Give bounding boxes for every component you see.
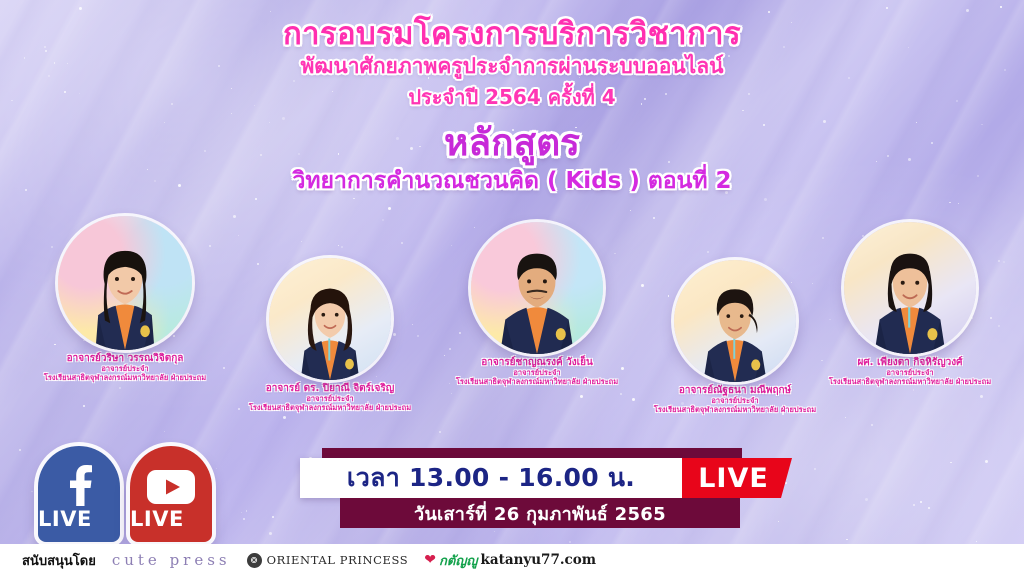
sponsor-footer: สนับสนุนโดย cute press ❂ ORIENTAL PRINCE… [0, 544, 1024, 576]
sponsor-cute-press: cute press [112, 551, 231, 569]
youtube-live-label: LIVE [130, 507, 212, 531]
facebook-live-label: LIVE [38, 507, 120, 531]
schedule-banner: เวลา 13.00 - 16.00 น. LIVE วันเสาร์ที่ 2… [300, 448, 770, 534]
speaker-photo [471, 222, 603, 354]
speaker-card: อาจารย์ ดร. ปิยาณี จิตร์เจริญ อาจารย์ประ… [215, 258, 445, 412]
oriental-princess-label: ORIENTAL PRINCESS [267, 553, 409, 567]
speaker-card: อาจารย์วริษา วรรณวิจิตกุล อาจารย์ประจำ โ… [10, 216, 240, 382]
speaker-caption: อาจารย์ณัฐธนา มณีพฤกษ์ อาจารย์ประจำ โรงเ… [620, 385, 850, 414]
heart-leaf-icon: ❤ [424, 552, 436, 568]
katanyu-url: katanyu77.com [481, 552, 597, 568]
time-chip: เวลา 13.00 - 16.00 น. [300, 458, 682, 498]
speaker-org: โรงเรียนสาธิตจุฬาลงกรณ์มหาวิทยาลัย ฝ่ายป… [422, 378, 652, 387]
speaker-caption: อาจารย์ ดร. ปิยาณี จิตร์เจริญ อาจารย์ประ… [215, 383, 445, 412]
speaker-photo [674, 260, 796, 382]
speaker-caption: อาจารย์วริษา วรรณวิจิตกุล อาจารย์ประจำ โ… [10, 353, 240, 382]
katanyu-thai-label: กตัญญู [439, 550, 477, 571]
youtube-play-icon [147, 470, 195, 508]
portrait-illustration [844, 222, 976, 354]
portrait-illustration [471, 222, 603, 354]
youtube-live-badge[interactable]: LIVE [130, 446, 212, 542]
date-chip: วันเสาร์ที่ 26 กุมภาพันธ์ 2565 [340, 498, 740, 528]
portrait-illustration [674, 260, 796, 382]
speaker-org: โรงเรียนสาธิตจุฬาลงกรณ์มหาวิทยาลัย ฝ่ายป… [795, 378, 1024, 387]
speaker-org: โรงเรียนสาธิตจุฬาลงกรณ์มหาวิทยาลัย ฝ่ายป… [620, 406, 850, 415]
portrait-illustration [58, 216, 192, 350]
course-name: วิทยาการคำนวณชวนคิด ( Kids ) ตอนที่ 2 [0, 163, 1024, 199]
supported-by-label: สนับสนุนโดย [22, 550, 96, 571]
portrait-illustration [269, 258, 391, 380]
date-text: วันเสาร์ที่ 26 กุมภาพันธ์ 2565 [414, 499, 666, 528]
speaker-caption: อาจารย์ชาญณรงค์ วังเย็น อาจารย์ประจำ โรง… [422, 357, 652, 386]
speaker-card: อาจารย์ชาญณรงค์ วังเย็น อาจารย์ประจำ โรง… [422, 222, 652, 386]
social-live-badges: LIVE LIVE [38, 446, 212, 542]
facebook-icon [62, 464, 96, 510]
live-tag-text: LIVE [698, 463, 769, 494]
speaker-caption: ผศ. เพียงตา กิจหิรัญวงศ์ อาจารย์ประจำ โร… [795, 357, 1024, 386]
sponsor-katanyu: ❤ กตัญญู katanyu77.com [424, 550, 596, 571]
sponsor-oriental-princess: ❂ ORIENTAL PRINCESS [247, 553, 409, 568]
speaker-photo [269, 258, 391, 380]
speaker-org: โรงเรียนสาธิตจุฬาลงกรณ์มหาวิทยาลัย ฝ่ายป… [10, 374, 240, 383]
subtitle-year: ประจำปี 2564 ครั้งที่ 4 [0, 81, 1024, 113]
oriental-princess-seal-icon: ❂ [247, 553, 262, 568]
poster-canvas: การอบรมโครงการบริการวิชาการ พัฒนาศักยภาพ… [0, 0, 1024, 576]
subtitle-program: พัฒนาศักยภาพครูประจำการผ่านระบบออนไลน์ [0, 50, 1024, 83]
speaker-card: ผศ. เพียงตา กิจหิรัญวงศ์ อาจารย์ประจำ โร… [795, 222, 1024, 386]
live-tag: LIVE [682, 458, 792, 498]
speaker-org: โรงเรียนสาธิตจุฬาลงกรณ์มหาวิทยาลัย ฝ่ายป… [215, 404, 445, 413]
time-text: เวลา 13.00 - 16.00 น. [347, 458, 635, 498]
speaker-photo [844, 222, 976, 354]
speaker-photo [58, 216, 192, 350]
facebook-live-badge[interactable]: LIVE [38, 446, 120, 542]
